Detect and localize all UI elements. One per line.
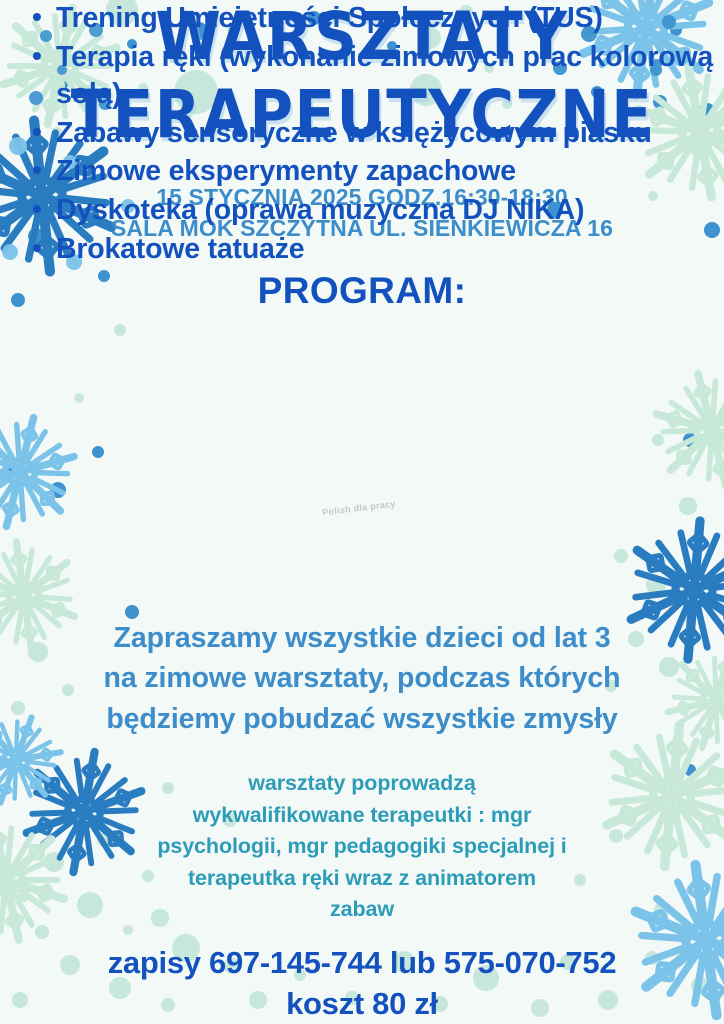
- list-item: Zabawy sensoryczne w księżycowym piasku: [30, 115, 724, 153]
- list-item: Brokatowe tatuaże: [30, 231, 724, 269]
- list-item: Zimowe eksperymenty zapachowe: [30, 153, 724, 191]
- program-heading: PROGRAM:: [0, 270, 724, 312]
- list-item: Dyskoteka (oprawa muzyczna DJ NIKA): [30, 192, 724, 230]
- staff-line-5: zabaw: [0, 894, 724, 926]
- watermark: Polish dla pracy: [322, 499, 396, 518]
- contact-footer: zapisy 697-145-744 lub 575-070-752 koszt…: [0, 942, 724, 1024]
- staff-line-4: terapeutka ręki wraz z animatorem: [0, 863, 724, 895]
- staff-line-1: warsztaty poprowadzą: [0, 768, 724, 800]
- invitation-line-1: Zapraszamy wszystkie dzieci od lat 3: [0, 618, 724, 658]
- invitation-line-3: będziemy pobudzać wszystkie zmysły: [0, 699, 724, 739]
- invitation-line-2: na zimowe warsztaty, podczas których: [0, 658, 724, 698]
- staff-note: warsztaty poprowadzą wykwalifikowane ter…: [0, 768, 724, 926]
- staff-line-2: wykwalifikowane terapeutki : mgr: [0, 800, 724, 832]
- program-list: Trening Umiejętności Społecznych (TUS) T…: [0, 0, 724, 268]
- invitation-text: Zapraszamy wszystkie dzieci od lat 3 na …: [0, 618, 724, 739]
- list-item: Terapia ręki (wykonanie zimowych prac ko…: [30, 39, 724, 114]
- staff-line-3: psychologii, mgr pedagogiki specjalnej i: [0, 831, 724, 863]
- list-item: Trening Umiejętności Społecznych (TUS): [30, 0, 724, 38]
- poster-canvas: WARSZTATY TERAPEUTYCZNE 15 STYCZNIA 2025…: [0, 0, 724, 1024]
- registration-phones: zapisy 697-145-744 lub 575-070-752: [0, 942, 724, 983]
- price-line: koszt 80 zł: [0, 983, 724, 1024]
